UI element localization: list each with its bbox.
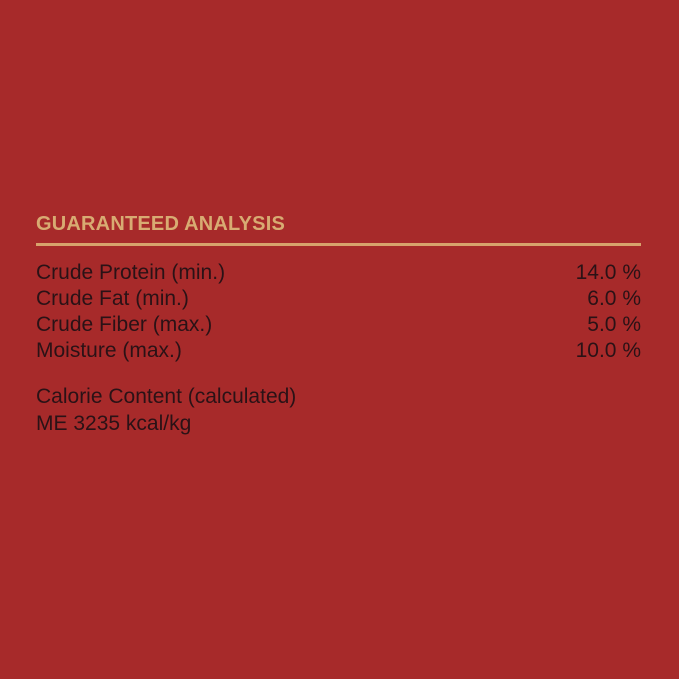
page-title: GUARANTEED ANALYSIS	[36, 212, 641, 236]
nutrient-value: 5.0 %	[486, 312, 641, 338]
table-row: Crude Fat (min.) 6.0 %	[36, 286, 641, 312]
heading-divider	[36, 243, 641, 246]
guaranteed-analysis-table: Crude Protein (min.) 14.0 % Crude Fat (m…	[36, 260, 641, 364]
table-row: Crude Protein (min.) 14.0 %	[36, 260, 641, 286]
nutrient-value: 14.0 %	[486, 260, 641, 286]
calorie-content-title: Calorie Content (calculated)	[36, 383, 641, 410]
nutrient-value: 6.0 %	[486, 286, 641, 312]
guaranteed-analysis-panel: GUARANTEED ANALYSIS Crude Protein (min.)…	[36, 212, 641, 437]
table-row: Crude Fiber (max.) 5.0 %	[36, 312, 641, 338]
table-row: Moisture (max.) 10.0 %	[36, 338, 641, 364]
nutrient-label: Crude Fat (min.)	[36, 286, 486, 312]
calorie-me-value: ME 3235 kcal/kg	[36, 410, 641, 437]
nutrient-value: 10.0 %	[486, 338, 641, 364]
calorie-content-block: Calorie Content (calculated) ME 3235 kca…	[36, 383, 641, 437]
nutrient-label: Moisture (max.)	[36, 338, 486, 364]
nutrient-label: Crude Fiber (max.)	[36, 312, 486, 338]
nutrient-label: Crude Protein (min.)	[36, 260, 486, 286]
